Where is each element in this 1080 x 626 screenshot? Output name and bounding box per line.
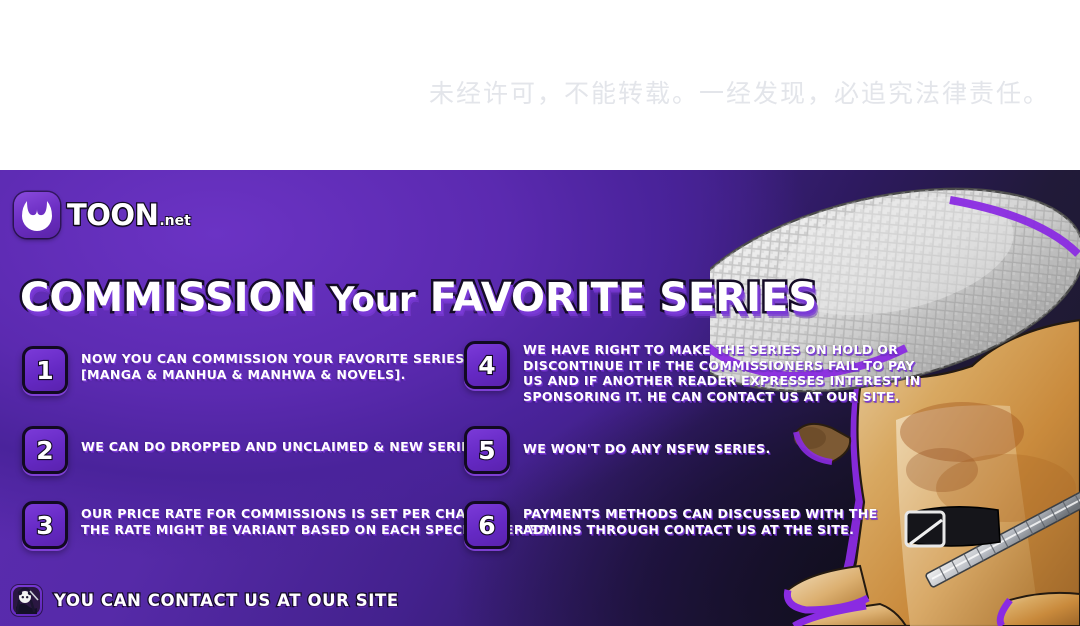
rule-line: SPONSORING IT. HE CAN CONTACT US AT OUR … xyxy=(523,389,921,405)
rule-text: WE WON'T DO ANY NSFW SERIES. xyxy=(523,425,771,457)
rule-number: 2 xyxy=(36,438,53,463)
rule-number-badge: 1 xyxy=(22,346,68,394)
rule-line: US AND IF ANOTHER READER EXPRESSES INTER… xyxy=(523,373,921,389)
contact-label: YOU CAN CONTACT US AT OUR SITE xyxy=(54,591,399,610)
list-item: 6 PAYMENTS METHODS CAN DISCUSSED WITH TH… xyxy=(464,500,859,549)
watermark-strip: 未经许可，不能转载。一经发现，必追究法律责任。 xyxy=(0,0,1080,170)
rule-number: 5 xyxy=(478,438,495,463)
rule-text: PAYMENTS METHODS CAN DISCUSSED WITH THE … xyxy=(523,500,877,537)
promo-banner: TOON .net COMMISSION Your FAVORITE SERIE… xyxy=(0,170,1080,626)
rule-line: NOW YOU CAN COMMISSION YOUR FAVORITE SER… xyxy=(81,351,465,367)
rule-line: WE WON'T DO ANY NSFW SERIES. xyxy=(523,441,771,457)
commission-rules-list: 1 NOW YOU CAN COMMISSION YOUR FAVORITE S… xyxy=(0,170,1080,626)
rule-number-badge: 4 xyxy=(464,341,510,389)
rule-number-badge: 3 xyxy=(22,501,68,549)
rule-line: PAYMENTS METHODS CAN DISCUSSED WITH THE xyxy=(523,506,877,522)
copyright-watermark-text: 未经许可，不能转载。一经发现，必追究法律责任。 xyxy=(429,74,1050,110)
rule-line: [MANGA & MANHUA & MANHWA & NOVELS]. xyxy=(81,367,465,383)
list-item: 3 OUR PRICE RATE FOR COMMISSIONS IS SET … xyxy=(22,500,467,549)
rule-number: 3 xyxy=(36,513,53,538)
ninja-mascot-avatar-icon xyxy=(10,584,43,617)
rule-number-badge: 6 xyxy=(464,501,510,549)
rule-number-badge: 5 xyxy=(464,426,510,474)
rule-line: WE HAVE RIGHT TO MAKE THE SERIES ON HOLD… xyxy=(523,342,921,358)
rule-line: WE CAN DO DROPPED AND UNCLAIMED & NEW SE… xyxy=(81,439,484,455)
rule-number: 1 xyxy=(36,358,53,383)
rule-text: WE HAVE RIGHT TO MAKE THE SERIES ON HOLD… xyxy=(523,340,921,404)
list-item: 4 WE HAVE RIGHT TO MAKE THE SERIES ON HO… xyxy=(464,340,859,404)
rule-number: 6 xyxy=(478,513,495,538)
rule-number-badge: 2 xyxy=(22,426,68,474)
rule-text: NOW YOU CAN COMMISSION YOUR FAVORITE SER… xyxy=(81,345,465,382)
list-item: 2 WE CAN DO DROPPED AND UNCLAIMED & NEW … xyxy=(22,425,467,474)
rule-line: DISCONTINUE IT IF THE COMMISSIONERS FAIL… xyxy=(523,358,921,374)
list-item: 1 NOW YOU CAN COMMISSION YOUR FAVORITE S… xyxy=(22,345,467,394)
rule-number: 4 xyxy=(478,353,495,378)
rule-line: ADMINS THROUGH CONTACT US AT THE SITE. xyxy=(523,522,877,538)
contact-footer[interactable]: YOU CAN CONTACT US AT OUR SITE xyxy=(10,584,399,617)
list-item: 5 WE WON'T DO ANY NSFW SERIES. xyxy=(464,425,859,474)
rule-text: WE CAN DO DROPPED AND UNCLAIMED & NEW SE… xyxy=(81,425,484,455)
